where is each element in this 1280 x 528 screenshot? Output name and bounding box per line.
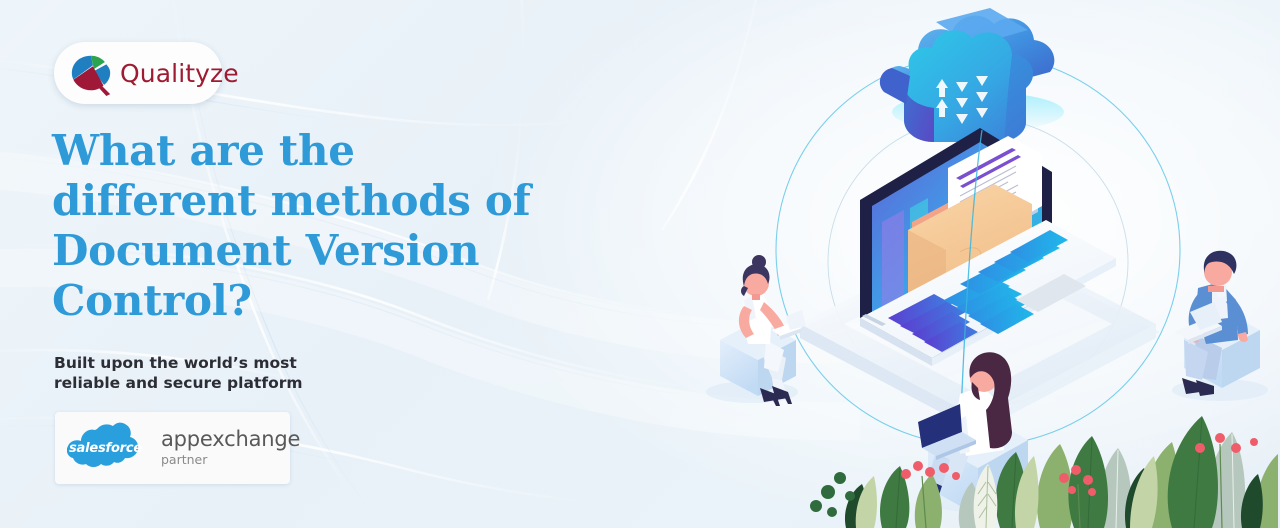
person-bottom-woman-on-cube [918,352,1034,516]
appexchange-label: appexchange [161,428,300,451]
cloud-glow [892,92,1064,132]
hero-illustration [660,0,1280,528]
person-right-man-on-cube [1172,251,1268,401]
laptop-icon [860,128,1116,366]
salesforce-cloud-icon: salesforce [67,421,143,475]
cube-left [720,320,796,396]
person-left-woman-on-cube [706,255,806,406]
partner-label: partner [161,452,300,468]
orbit-rings-inner [828,117,1128,407]
page-title: What are the different methods of Docume… [52,126,532,326]
hero-banner: Qualityze What are the different methods… [0,0,1280,528]
badge-text-block: appexchange partner [161,428,300,468]
hero-tagline: Built upon the world’s most reliable and… [54,353,354,393]
cube-bottom [928,412,1028,516]
berries [901,433,1258,496]
trackpad [1016,274,1086,312]
qualityze-leaf-mark-icon [68,50,114,96]
cloud-sync-icon [880,8,1055,142]
salesforce-appexchange-partner-badge[interactable]: salesforce appexchange partner [55,412,290,484]
document-icon [948,136,1042,240]
laptop-platform [796,232,1160,432]
folder-icon [908,184,1032,318]
foliage-decoration [810,416,1278,528]
salesforce-wordmark: salesforce [67,421,143,475]
keyboard-keys [888,230,1068,352]
cube-right [1184,310,1260,388]
brand-logo[interactable]: Qualityze [54,42,222,104]
brand-name: Qualityze [120,61,239,86]
data-beam [960,130,982,440]
orbit-rings [776,54,1180,446]
